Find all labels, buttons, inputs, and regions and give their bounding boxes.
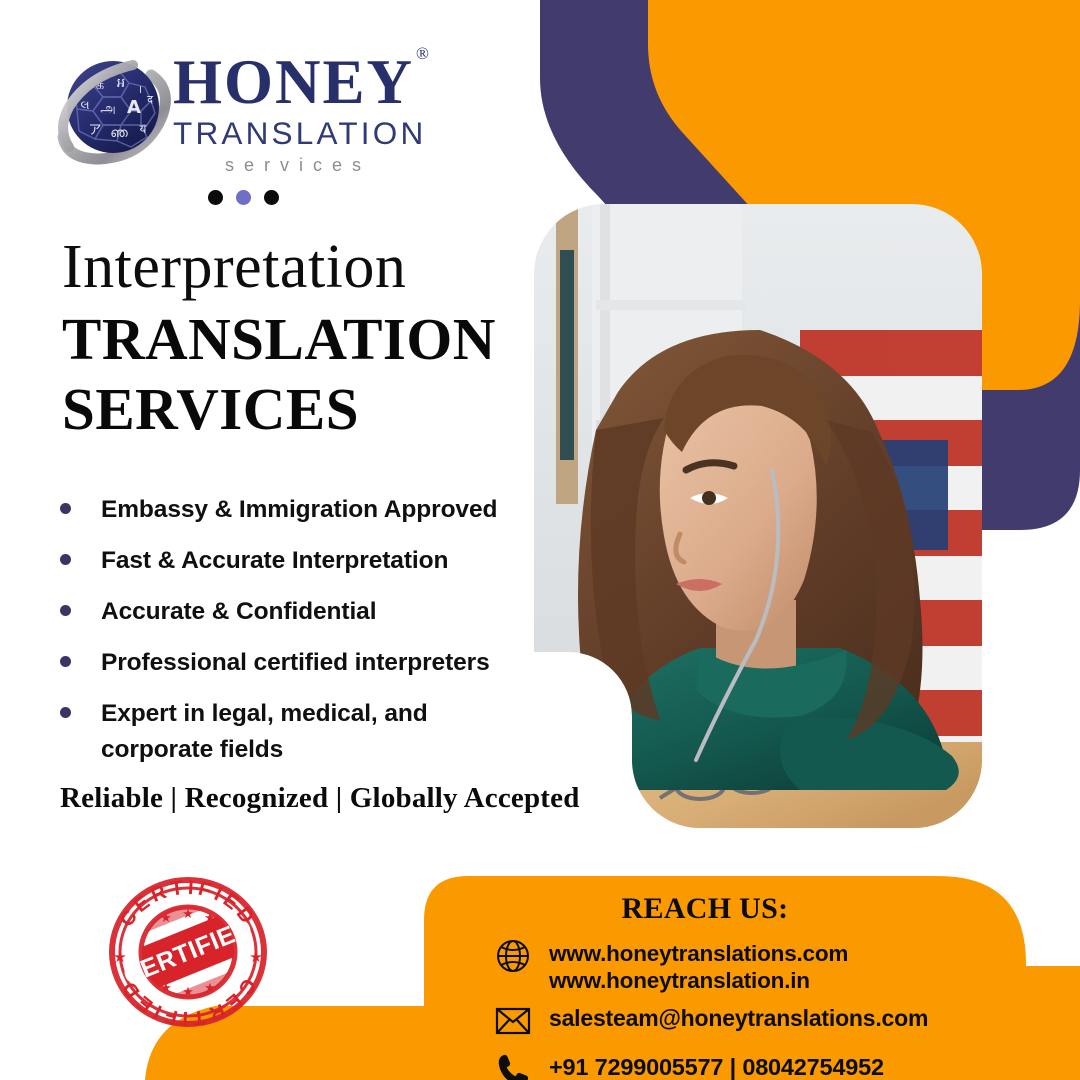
dot-3: [264, 190, 279, 205]
logo-primary-name: HONEY®: [173, 45, 429, 113]
email-text[interactable]: salesteam@honeytranslations.com: [549, 1001, 928, 1032]
bullet-icon: [60, 656, 71, 667]
contact-row-phone[interactable]: +91 7299005577 | 08042754952: [425, 1048, 1025, 1080]
reach-us-title: REACH US:: [425, 892, 985, 926]
dot-2: [236, 190, 251, 205]
feature-text: Professional certified interpreters: [101, 645, 490, 681]
phone-icon: [493, 1050, 533, 1080]
svg-text:★: ★: [204, 981, 216, 996]
feature-text: Embassy & Immigration Approved: [101, 492, 497, 528]
svg-text:ア: ア: [88, 123, 101, 138]
logo-dots: [208, 190, 279, 205]
svg-text:★: ★: [182, 985, 194, 1000]
bullet-icon: [60, 503, 71, 514]
svg-text:★: ★: [182, 907, 194, 922]
stamp-arc-top: CERTIFIED: [116, 877, 261, 931]
brand-logo[interactable]: க អ । લ அ A द ア ഞ य HONEY® TRANSLATION: [55, 45, 475, 180]
poster-canvas: க អ । લ அ A द ア ഞ य HONEY® TRANSLATION: [0, 0, 1080, 1080]
logo-wordmark: HONEY® TRANSLATION services: [173, 45, 473, 177]
svg-text:★: ★: [113, 948, 126, 966]
logo-tertiary-name: services: [173, 153, 473, 177]
registered-mark: ®: [416, 44, 431, 63]
dot-1: [208, 190, 223, 205]
list-item: Professional certified interpreters: [55, 645, 525, 681]
interpreter-photo: [534, 204, 982, 830]
headline-bold-1: TRANSLATION: [62, 306, 532, 372]
globe-icon: [493, 936, 533, 976]
headline-bold-2: SERVICES: [62, 376, 532, 442]
envelope-icon: [493, 1001, 533, 1041]
svg-text:ഞ: ഞ: [110, 126, 128, 141]
list-item: Fast & Accurate Interpretation: [55, 543, 525, 579]
contact-panel: REACH US: www.honeytranslations.com www.…: [425, 876, 1025, 1080]
website-1[interactable]: www.honeytranslations.com: [549, 940, 848, 967]
list-item: Accurate & Confidential: [55, 594, 525, 630]
certified-stamp-icon: ★★★ ★★★ CERTIFIED CERTIFIED CERTIFIED ★★: [100, 866, 276, 1034]
svg-text:★: ★: [204, 911, 216, 926]
svg-text:।: ।: [138, 83, 142, 96]
bullet-icon: [60, 605, 71, 616]
contact-row-website[interactable]: www.honeytranslations.com www.honeytrans…: [425, 936, 1025, 994]
bullet-icon: [60, 707, 71, 718]
svg-text:அ: அ: [100, 101, 116, 117]
globe-languages-icon: க អ । લ அ A द ア ഞ य: [55, 51, 173, 169]
list-item: Embassy & Immigration Approved: [55, 492, 525, 528]
svg-text:द: द: [147, 93, 153, 106]
svg-text:A: A: [127, 97, 141, 118]
svg-text:★: ★: [160, 911, 172, 926]
feature-text: Fast & Accurate Interpretation: [101, 543, 448, 579]
website-text[interactable]: www.honeytranslations.com www.honeytrans…: [549, 936, 848, 994]
headline-script: Interpretation: [62, 232, 532, 302]
contact-row-email[interactable]: salesteam@honeytranslations.com: [425, 1001, 1025, 1041]
svg-text:य: य: [140, 122, 148, 136]
headline-block: Interpretation TRANSLATION SERVICES: [62, 232, 532, 442]
list-item: Expert in legal, medical, and corporate …: [55, 696, 525, 768]
feature-text: Expert in legal, medical, and corporate …: [101, 696, 461, 768]
feature-list: Embassy & Immigration Approved Fast & Ac…: [55, 492, 525, 783]
svg-text:★: ★: [160, 981, 172, 996]
svg-text:អ: អ: [117, 76, 125, 91]
svg-text:★: ★: [249, 948, 262, 966]
website-2[interactable]: www.honeytranslation.in: [549, 967, 848, 994]
bullet-icon: [60, 554, 71, 565]
phone-text[interactable]: +91 7299005577 | 08042754952: [549, 1048, 884, 1080]
svg-text:લ: લ: [80, 98, 89, 112]
tagline: Reliable | Recognized | Globally Accepte…: [60, 780, 680, 816]
feature-text: Accurate & Confidential: [101, 594, 376, 630]
logo-secondary-name: TRANSLATION: [173, 115, 473, 151]
